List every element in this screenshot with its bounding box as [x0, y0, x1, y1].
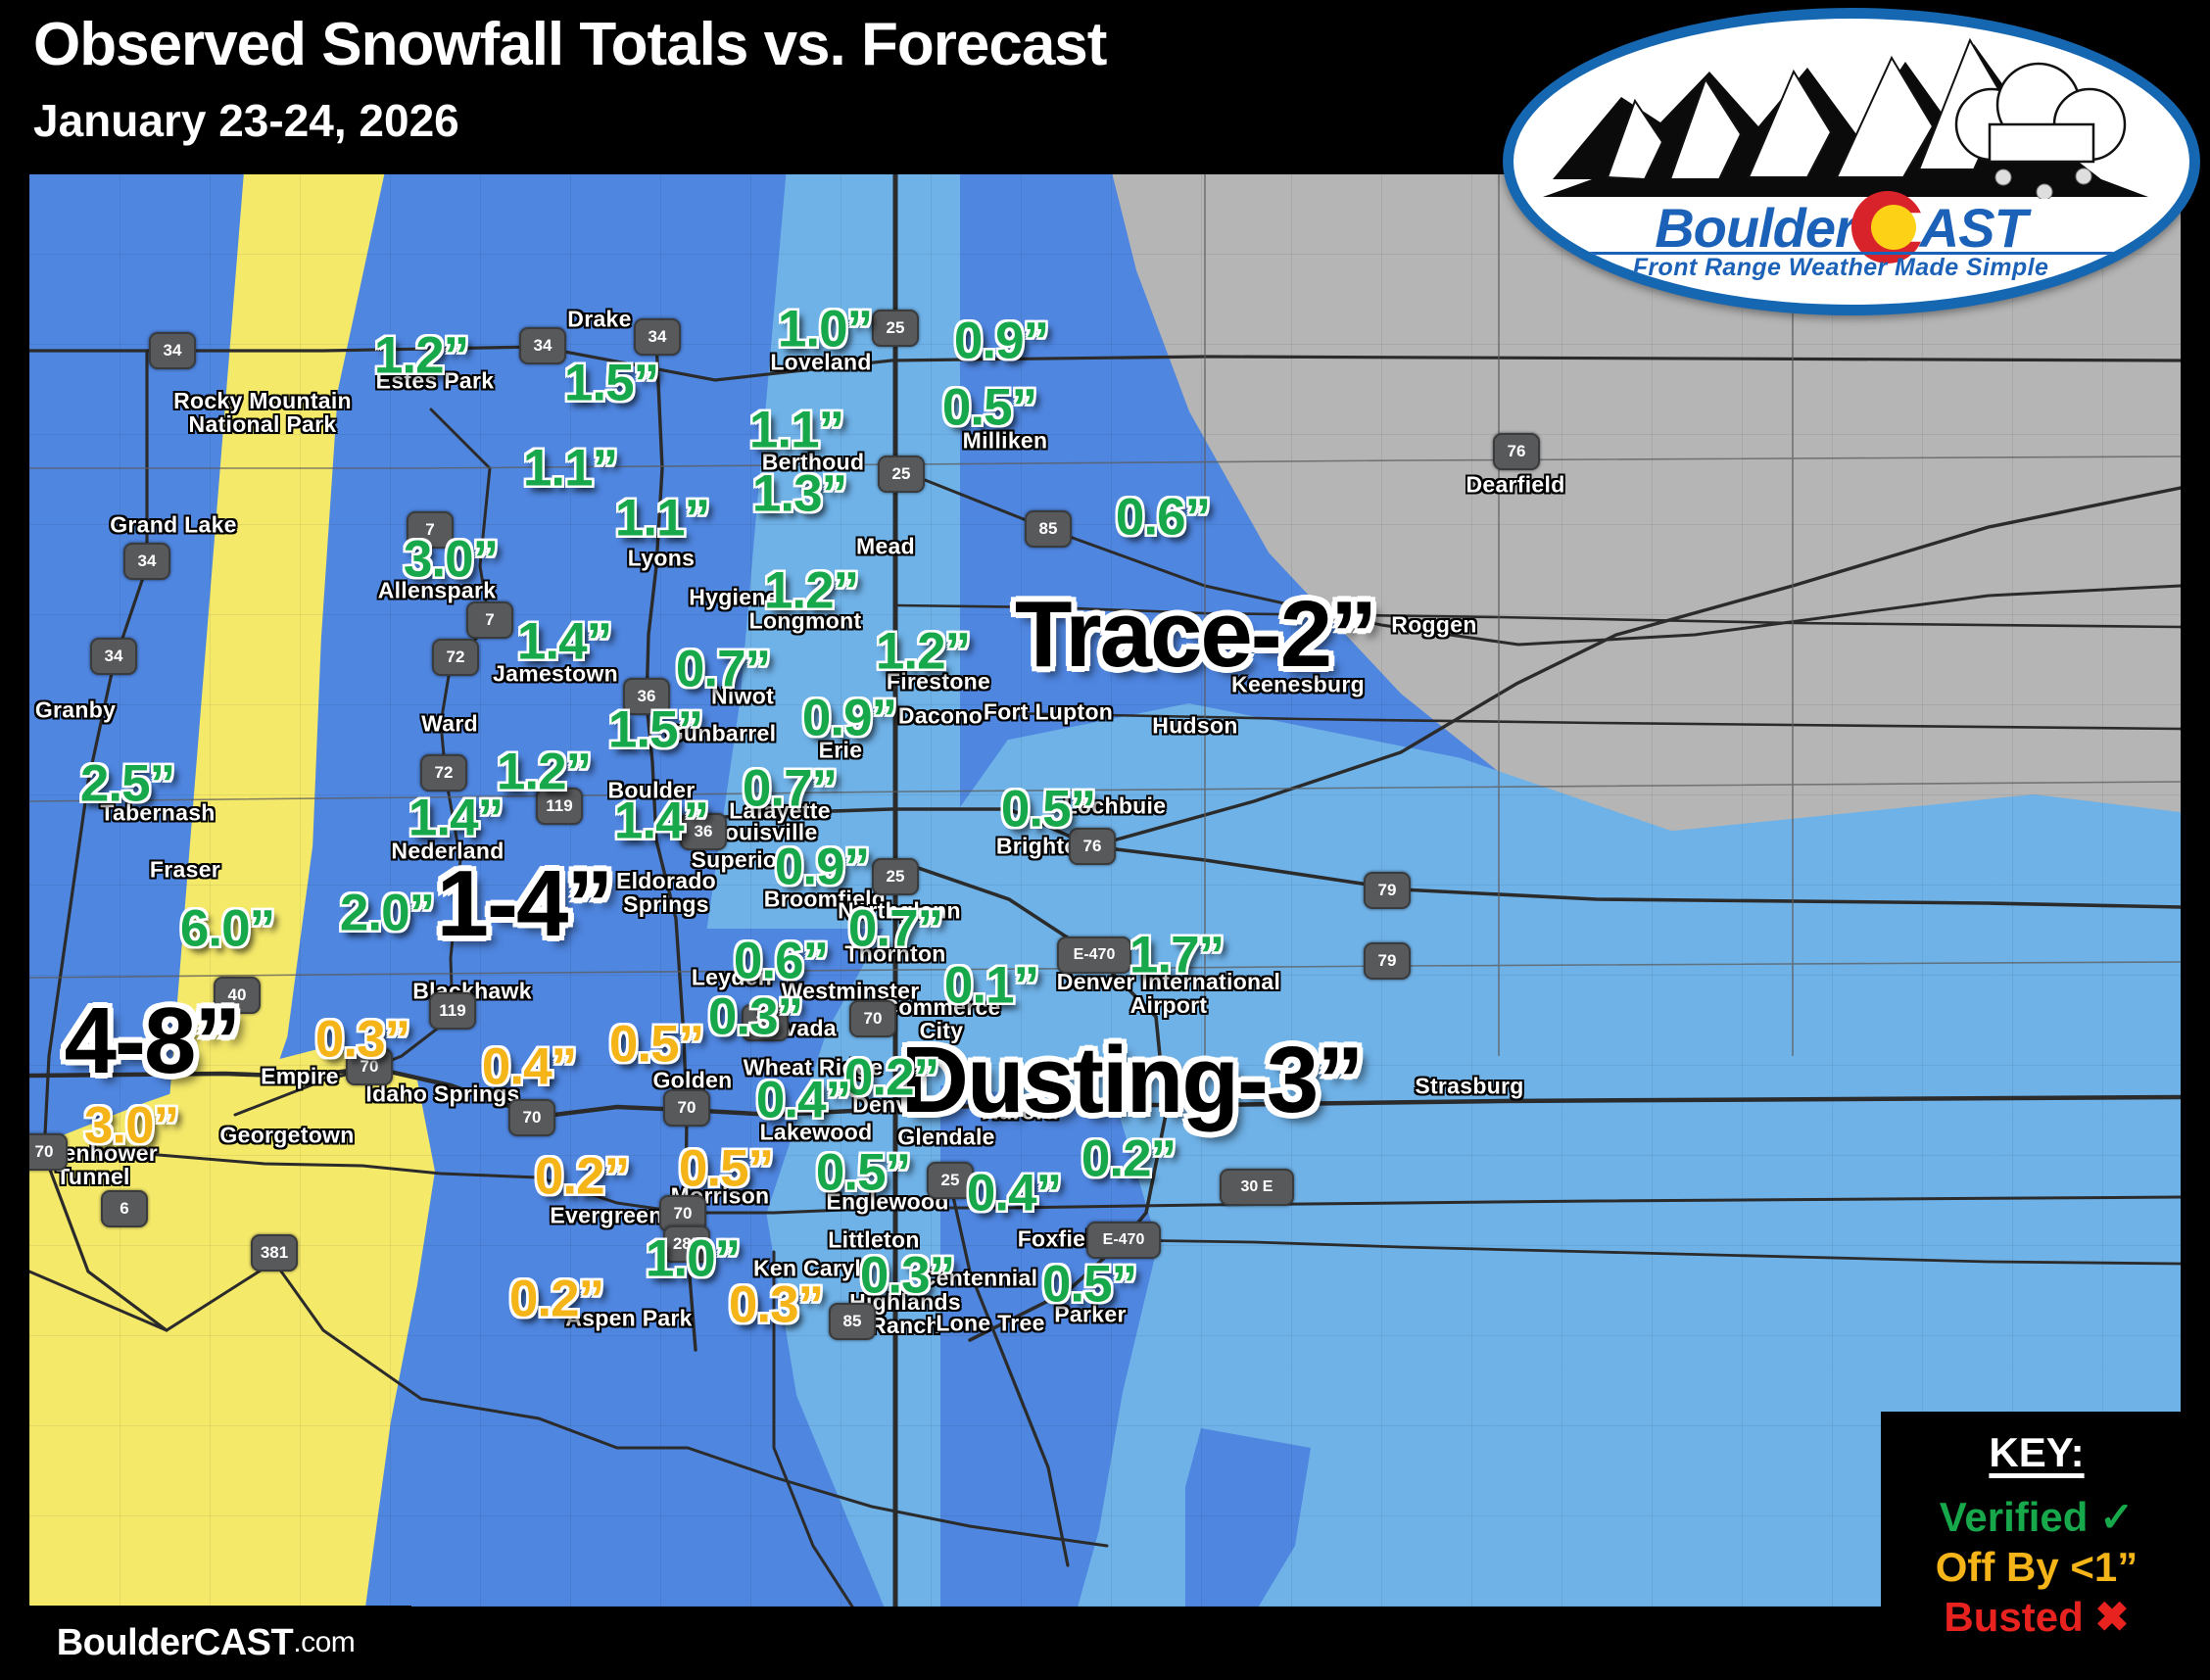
observed-snowfall-value: 1.2”: [497, 743, 591, 802]
observed-snowfall-value: 1.1”: [749, 401, 843, 460]
city-label-line: Roggen: [1391, 612, 1476, 639]
observed-snowfall-value: 1.3”: [752, 464, 846, 524]
site-watermark[interactable]: BoulderCAST.com: [0, 1606, 411, 1680]
city-label: Fort Lupton: [984, 699, 1113, 726]
page-subtitle: January 23-24, 2026: [33, 94, 459, 147]
city-label-line: Georgetown: [219, 1123, 354, 1149]
route-shield-icon: 34: [149, 332, 196, 369]
city-label: Strasburg: [1415, 1074, 1523, 1100]
city-label-line: Eldorado: [616, 869, 716, 892]
route-shield-icon: 6: [101, 1190, 148, 1227]
city-label: Lone Tree: [936, 1311, 1044, 1337]
observed-snowfall-value: 0.9”: [802, 689, 896, 748]
route-shield-icon: 70: [508, 1099, 555, 1136]
observed-snowfall-value: 0.5”: [1001, 780, 1095, 840]
city-label-line: Granby: [35, 697, 116, 724]
observed-snowfall-value: 1.7”: [1129, 926, 1224, 985]
observed-snowfall-value: 1.0”: [778, 300, 872, 360]
observed-snowfall-value: 2.0”: [340, 884, 434, 943]
observed-snowfall-value: 0.3”: [860, 1246, 954, 1306]
route-shield-icon: 34: [519, 327, 566, 364]
observed-snowfall-value: 0.5”: [1042, 1255, 1136, 1315]
observed-snowfall-value: 0.3”: [708, 987, 802, 1047]
city-label: Dacono: [898, 703, 983, 730]
logo-word-boulder: Boulder: [1655, 196, 1855, 260]
route-shield-icon: 25: [872, 310, 919, 347]
route-shield-icon: 72: [420, 754, 467, 792]
city-label-line: Drake: [567, 307, 631, 333]
city-label-line: Springs: [616, 892, 716, 916]
city-label-line: Hudson: [1152, 713, 1237, 740]
observed-snowfall-value: 0.7”: [743, 759, 837, 819]
city-label: Georgetown: [219, 1123, 354, 1149]
city-label-line: Rocky Mountain: [173, 389, 352, 412]
legend-title: KEY:: [1989, 1429, 2084, 1476]
route-shield-icon: 34: [123, 543, 170, 580]
route-shield-icon: 34: [634, 318, 681, 356]
page-title: Observed Snowfall Totals vs. Forecast: [33, 10, 1106, 79]
route-shield-icon: 30 E: [1220, 1169, 1294, 1206]
observed-snowfall-value: 0.4”: [967, 1164, 1061, 1224]
city-label: EldoradoSprings: [616, 869, 716, 916]
forecast-zone-label: Dusting-3”: [901, 1027, 1363, 1134]
bouldercast-logo[interactable]: Boulder AST Front Range Weather Made Sim…: [1503, 8, 2200, 315]
legend-row-verified: Verified ✓: [1940, 1492, 2135, 1542]
site-tld: .com: [293, 1626, 355, 1659]
route-shield-icon: 70: [663, 1089, 710, 1127]
map-canvas[interactable]: DrakeEstes ParkLovelandRocky MountainNat…: [29, 174, 2181, 1607]
city-label: Ward: [421, 711, 478, 738]
observed-snowfall-value: 0.2”: [844, 1048, 938, 1108]
route-shield-icon: 25: [872, 858, 919, 895]
city-label-line: Grand Lake: [110, 512, 237, 539]
observed-snowfall-value: 0.3”: [315, 1010, 409, 1070]
route-shield-icon: 72: [432, 639, 479, 676]
route-shield-icon: 7: [466, 601, 513, 639]
city-label: Drake: [567, 307, 631, 333]
city-label-line: Dearfield: [1465, 472, 1564, 499]
city-label-line: Fort Lupton: [984, 699, 1113, 726]
logo-word-ast: AST: [1920, 196, 2027, 260]
observed-snowfall-value: 0.2”: [1081, 1129, 1176, 1189]
observed-snowfall-value: 0.4”: [482, 1037, 576, 1097]
route-shield-icon: E-470: [1086, 1222, 1161, 1259]
city-label: Grand Lake: [110, 512, 237, 539]
observed-snowfall-value: 6.0”: [180, 899, 274, 959]
observed-snowfall-value: 1.5”: [608, 700, 702, 760]
observed-snowfall-value: 0.9”: [954, 312, 1048, 371]
route-shield-icon: 79: [1364, 942, 1411, 980]
observed-snowfall-value: 0.3”: [729, 1275, 823, 1335]
observed-snowfall-value: 0.2”: [509, 1270, 603, 1329]
observed-snowfall-value: 0.5”: [679, 1139, 773, 1199]
city-label-line: Ward: [421, 711, 478, 738]
observed-snowfall-value: 0.4”: [756, 1071, 850, 1130]
route-shield-icon: 381: [251, 1234, 298, 1272]
route-shield-icon: 70: [29, 1133, 68, 1171]
route-shield-icon: 85: [829, 1303, 876, 1340]
city-label-line: Mead: [856, 534, 915, 560]
city-label: Lyons: [628, 546, 695, 572]
site-name: BoulderCAST: [57, 1622, 294, 1664]
observed-snowfall-value: 1.4”: [408, 789, 503, 848]
city-label: Fraser: [150, 857, 220, 884]
snowfall-map-graphic: DrakeEstes ParkLovelandRocky MountainNat…: [0, 0, 2210, 1680]
city-label-line: Lone Tree: [936, 1311, 1044, 1337]
observed-snowfall-value: 0.5”: [816, 1143, 910, 1203]
observed-snowfall-value: 0.1”: [944, 956, 1038, 1016]
observed-snowfall-value: 1.2”: [764, 561, 858, 621]
map-frame-left: [0, 0, 29, 1680]
legend-row-off-by: Off By <1”: [1936, 1542, 2138, 1592]
route-shield-icon: E-470: [1057, 936, 1131, 974]
observed-snowfall-value: 1.2”: [876, 622, 970, 682]
observed-snowfall-value: 0.7”: [676, 640, 770, 699]
legend-row-busted: Busted ✖: [1944, 1592, 2129, 1642]
observed-snowfall-value: 1.2”: [374, 326, 468, 386]
city-label: Roggen: [1391, 612, 1476, 639]
city-label-line: Strasburg: [1415, 1074, 1523, 1100]
observed-snowfall-value: 2.5”: [80, 754, 174, 814]
observed-snowfall-value: 1.5”: [564, 354, 658, 413]
observed-snowfall-value: 0.6”: [1116, 488, 1210, 548]
observed-snowfall-value: 0.5”: [942, 378, 1036, 438]
observed-snowfall-value: 0.7”: [848, 899, 942, 959]
forecast-zone-label: Trace-2”: [1015, 581, 1375, 689]
city-label: Mead: [856, 534, 915, 560]
observed-snowfall-value: 0.6”: [734, 932, 828, 991]
route-shield-icon: 79: [1364, 872, 1411, 909]
flatirons-cloud-logo-icon: [1513, 32, 2168, 199]
city-label-line: Dacono: [898, 703, 983, 730]
route-shield-icon: 85: [1025, 510, 1072, 548]
observed-snowfall-value: 1.1”: [523, 439, 617, 499]
logo-wordmark: Boulder AST: [1513, 197, 2168, 258]
route-shield-icon: 76: [1493, 433, 1540, 470]
observed-snowfall-value: 0.2”: [535, 1147, 629, 1207]
forecast-zone-label: 1-4”: [437, 850, 612, 958]
observed-snowfall-value: 3.0”: [84, 1096, 178, 1156]
observed-snowfall-value: 1.0”: [646, 1229, 740, 1289]
observed-snowfall-value: 1.4”: [517, 612, 611, 672]
city-label: Dearfield: [1465, 472, 1564, 499]
city-label-line: Evergreen: [550, 1203, 662, 1229]
route-shield-icon: 34: [90, 638, 137, 675]
observed-snowfall-value: 1.1”: [615, 489, 709, 549]
city-label: Hudson: [1152, 713, 1237, 740]
observed-snowfall-value: 0.5”: [609, 1015, 703, 1075]
city-label-line: Lyons: [628, 546, 695, 572]
route-shield-icon: 119: [429, 992, 476, 1030]
observed-snowfall-value: 3.0”: [404, 530, 498, 590]
city-label: Rocky MountainNational Park: [173, 389, 352, 436]
observed-snowfall-value: 1.4”: [614, 792, 708, 851]
logo-tagline: Front Range Weather Made Simple: [1513, 254, 2168, 282]
forecast-zone-label: 4-8”: [65, 987, 240, 1095]
city-label: Granby: [35, 697, 116, 724]
city-label-line: National Park: [173, 412, 352, 436]
route-shield-icon: 25: [878, 456, 925, 493]
legend-key-box: KEY: Verified ✓ Off By <1” Busted ✖: [1881, 1412, 2192, 1664]
city-label: Evergreen: [550, 1203, 662, 1229]
route-shield-icon: 70: [849, 1000, 896, 1037]
city-label-line: Fraser: [150, 857, 220, 884]
city-label-line: Airport: [1057, 993, 1280, 1017]
observed-snowfall-value: 0.9”: [775, 838, 869, 897]
